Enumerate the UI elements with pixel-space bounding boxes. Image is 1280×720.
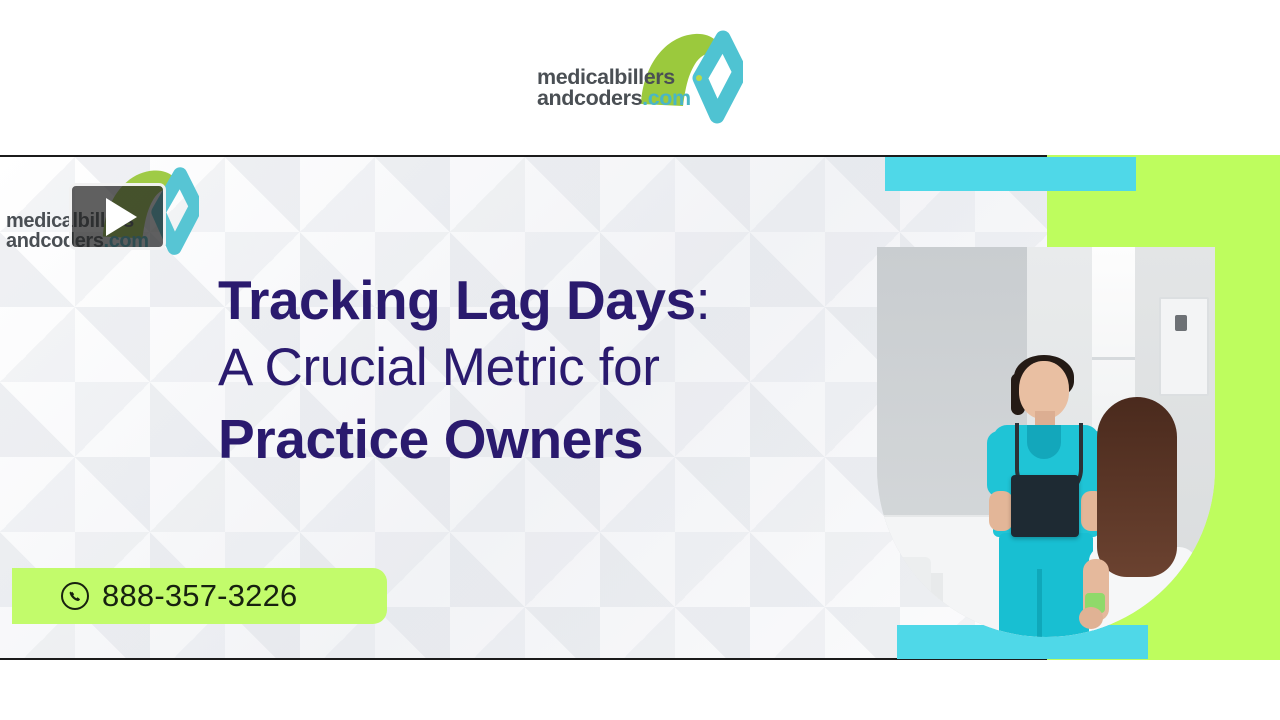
hero-title-line-3: Practice Owners (218, 407, 858, 472)
brand-tld: .com (642, 86, 691, 110)
accent-cyan-bar-top (885, 157, 1136, 191)
hero-title-line-2: A Crucial Metric for (218, 337, 858, 400)
hero-title: Tracking Lag Days: A Crucial Metric for … (218, 268, 858, 472)
photo-chair (885, 557, 931, 615)
page-root: medicalbillers andcoders.com (0, 0, 1280, 720)
hero-title-line-1: Tracking Lag Days: (218, 268, 858, 333)
play-triangle-icon (106, 198, 137, 236)
photo-bed-leg (929, 573, 943, 637)
nurse-and-patient-consultation-photo (877, 247, 1215, 637)
phone-cta-pill[interactable]: 888-357-3226 (12, 568, 387, 624)
photo-wall-panel (1159, 297, 1209, 396)
phone-circle-icon (60, 581, 90, 611)
brand-wordmark: medicalbillers andcoders.com (537, 67, 691, 109)
site-header: medicalbillers andcoders.com (0, 0, 1280, 155)
photo-scene (877, 247, 1215, 637)
brand-logo[interactable]: medicalbillers andcoders.com (537, 26, 743, 130)
photo-clipboard (1011, 475, 1079, 537)
phone-number-text: 888-357-3226 (102, 578, 297, 614)
photo-patient-figure (1089, 397, 1209, 637)
video-play-button[interactable] (69, 183, 166, 250)
brand-line2: andcoders (537, 86, 642, 110)
